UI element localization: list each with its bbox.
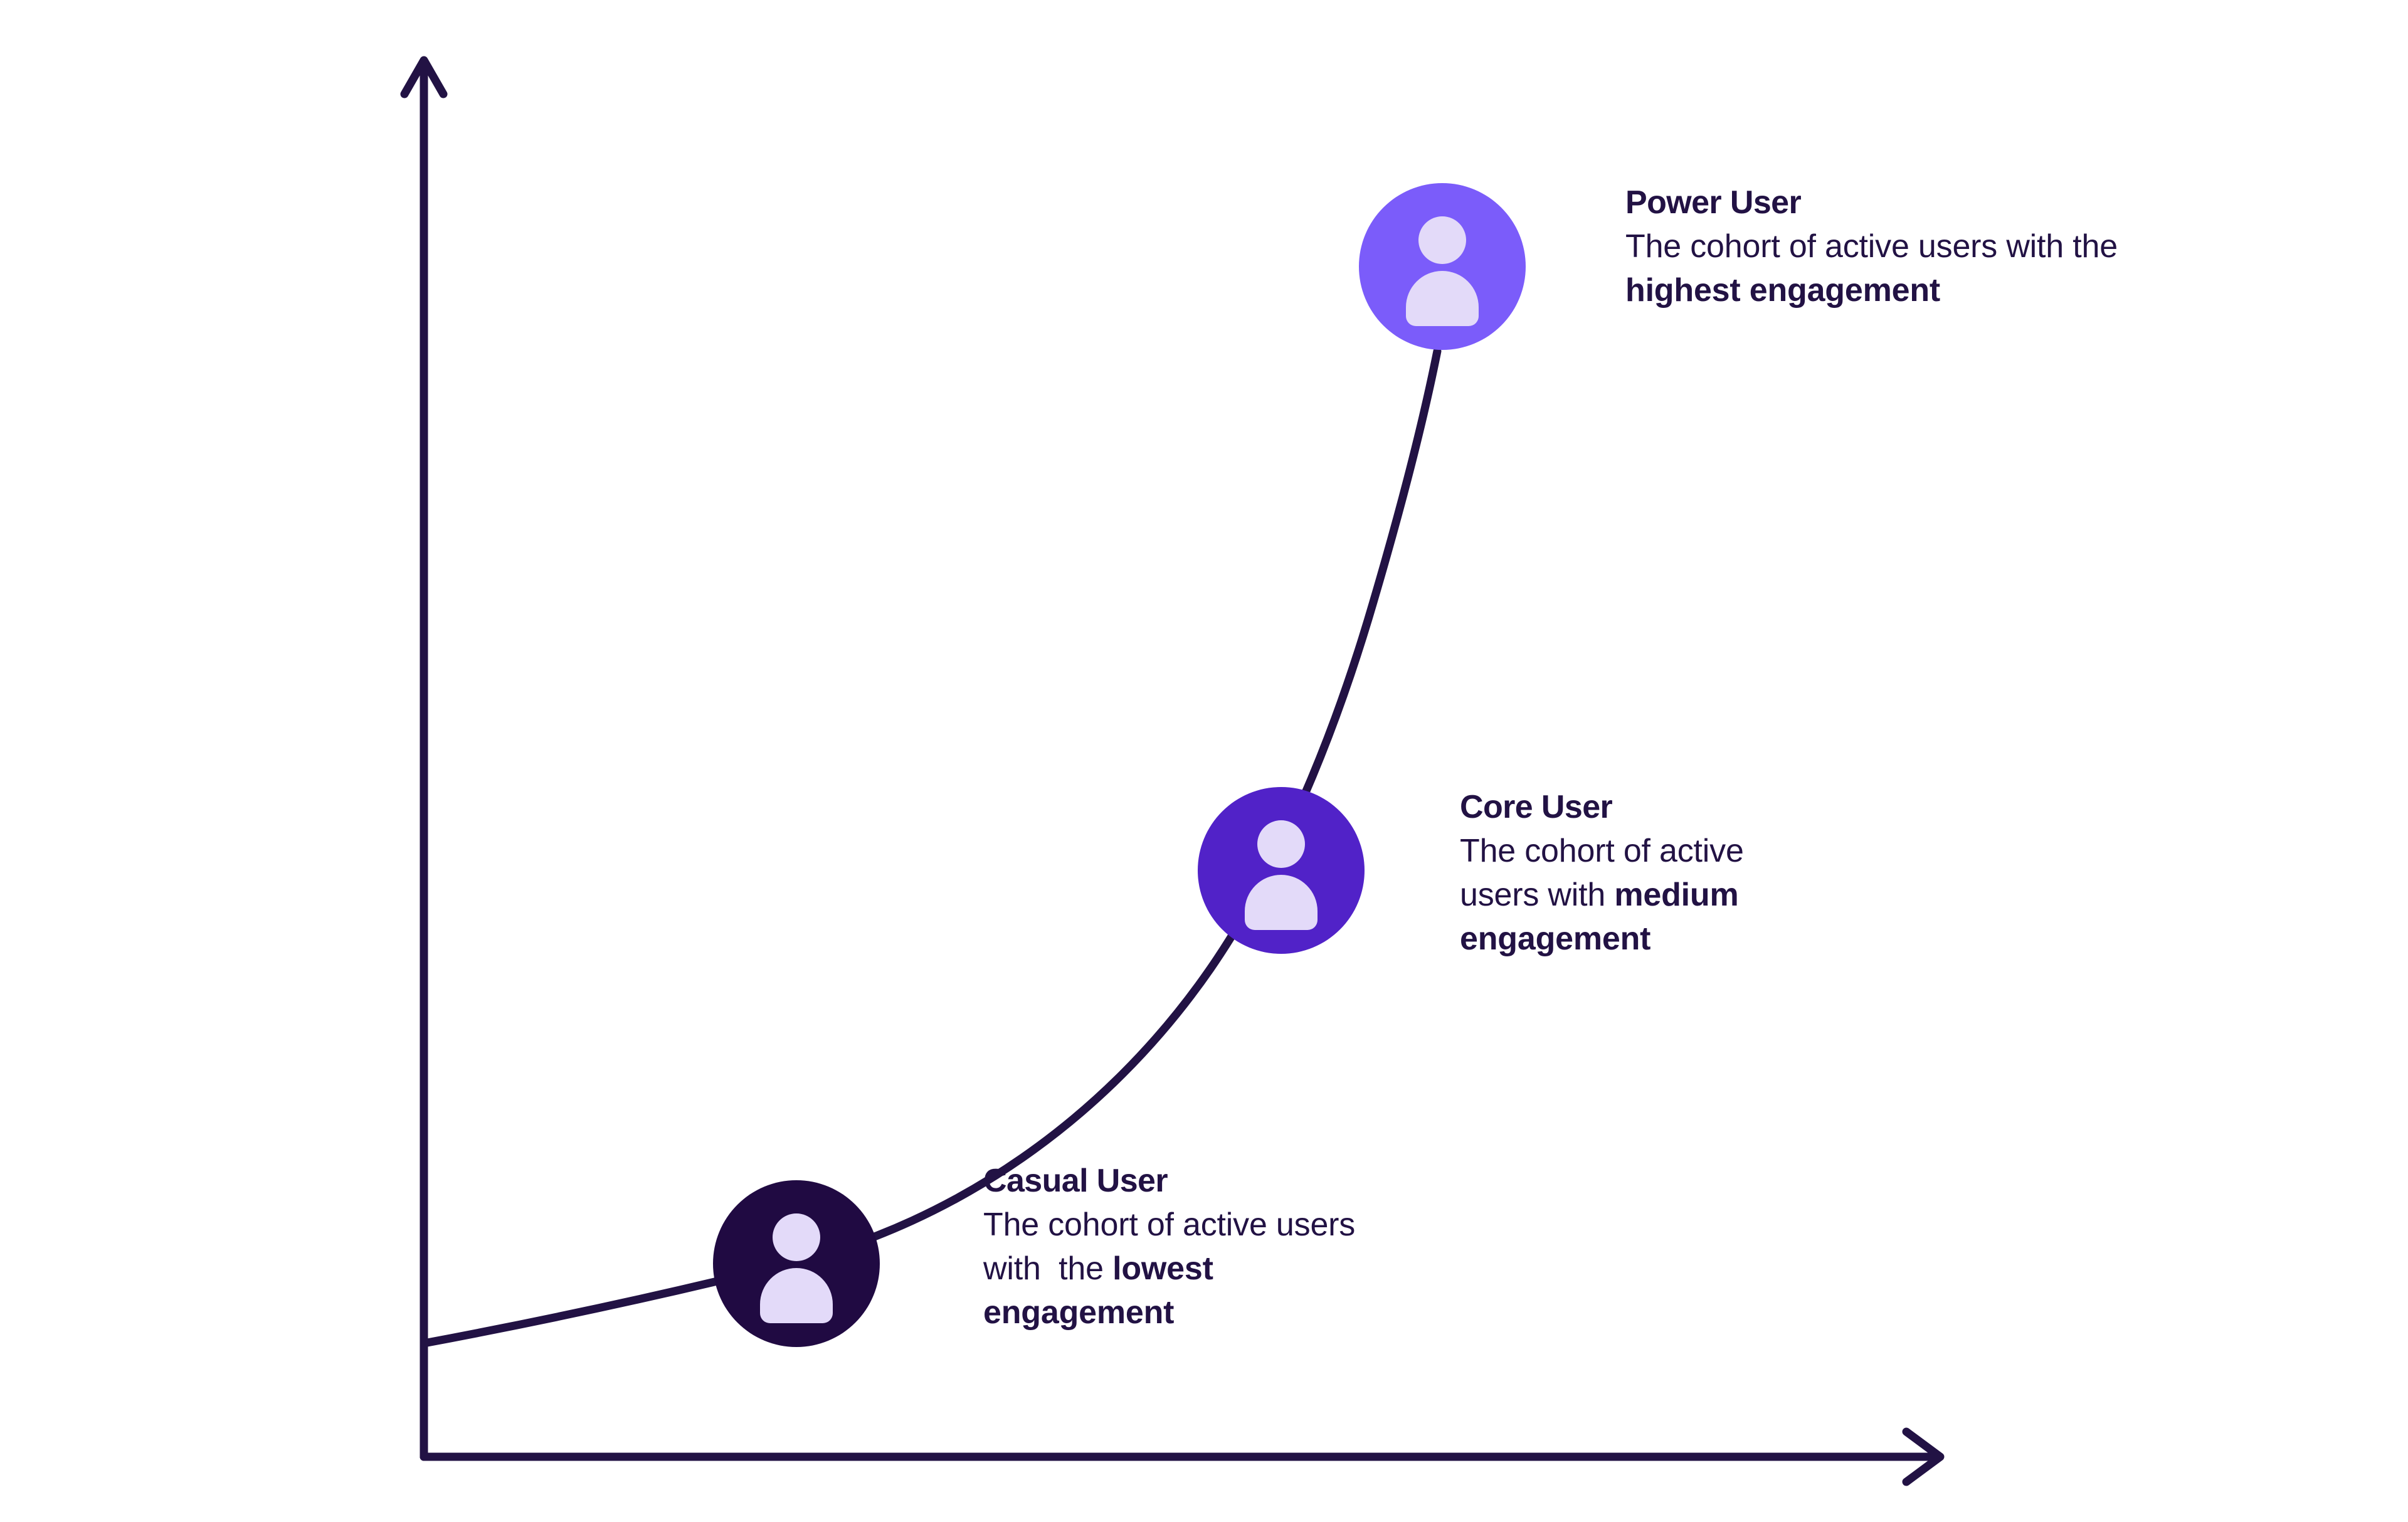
cohort-node-core[interactable] [1198, 787, 1365, 954]
callout-power-user: Power User The cohort of active users wi… [1625, 181, 2190, 312]
core-user-description: The cohort of active users with medium e… [1460, 829, 1824, 961]
power-user-title: Power User [1625, 181, 2190, 225]
cohort-node-power[interactable] [1359, 183, 1526, 350]
casual-user-description: The cohort of active users with the lowe… [983, 1203, 1360, 1334]
power-user-description: The cohort of active users with the high… [1625, 225, 2190, 312]
cohort-node-casual[interactable] [713, 1180, 880, 1347]
callout-casual-user: Casual User The cohort of active users w… [983, 1159, 1360, 1334]
callout-core-user: Core User The cohort of active users wit… [1460, 785, 1824, 961]
power-user-description-plain: The cohort of active users with the [1625, 228, 2126, 265]
power-user-description-emphasis: highest engagement [1625, 272, 1940, 309]
core-user-title: Core User [1460, 785, 1824, 829]
engagement-curve-diagram: Power User The cohort of active users wi… [0, 0, 2408, 1522]
casual-user-title: Casual User [983, 1159, 1360, 1203]
